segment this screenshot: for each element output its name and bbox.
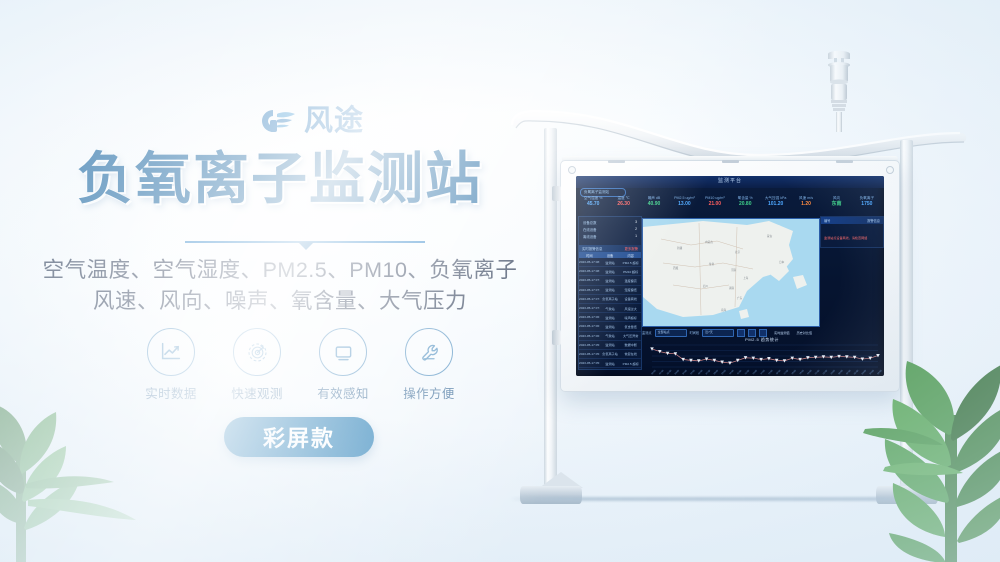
alarm-more-link[interactable]: 更多报警 (624, 246, 638, 251)
metric-card: 风向 东南 (821, 196, 851, 214)
feature-item-effective-sensing[interactable]: 有效感知 (312, 328, 374, 402)
trend-line-chart[interactable]: 00:0001:0002:0003:0004:0005:0006:0007:00… (642, 342, 882, 376)
metric-card: 空气湿度 % 45.70 (578, 196, 608, 214)
time-range-value: 近7天 (705, 330, 713, 334)
svg-text:13:00: 13:00 (753, 369, 759, 375)
svg-text:15:00: 15:00 (768, 369, 774, 375)
svg-text:01:00: 01:00 (846, 369, 852, 375)
svg-text:07:00: 07:00 (706, 369, 712, 375)
svg-text:20:00: 20:00 (807, 369, 813, 375)
cabinet-hinge (552, 330, 561, 345)
vent-slot (722, 160, 739, 163)
alarm-panel: 设备总数 3 在线设备 2 离线设备 1 实时报警信息 (578, 216, 642, 370)
svg-text:甘肃: 甘肃 (709, 262, 715, 266)
svg-text:23:00: 23:00 (831, 369, 837, 375)
svg-text:00:00: 00:00 (651, 369, 657, 375)
screw-hole (568, 166, 576, 174)
control-label-left: 监测点 (642, 330, 652, 335)
svg-text:四川: 四川 (703, 284, 709, 288)
metric-card: 大气压强 kPa 101.20 (760, 196, 790, 214)
line-chart-icon (147, 328, 195, 376)
svg-text:上海: 上海 (743, 276, 749, 280)
metric-card: 温度 ℃ 26.30 (608, 196, 638, 214)
svg-text:湖南: 湖南 (729, 286, 735, 290)
svg-text:02:00: 02:00 (667, 369, 673, 375)
svg-text:03:00: 03:00 (862, 369, 868, 375)
svg-text:04:00: 04:00 (682, 369, 688, 375)
title-divider (185, 237, 425, 249)
summary-key: 设备总数 (583, 220, 597, 225)
dashboard-title: 监测平台 (576, 177, 884, 184)
dashboard-screen[interactable]: 监测平台 负氧离子监测站 空气湿度 % 45.70 温度 ℃ 26.30 噪声 … (576, 176, 884, 376)
svg-text:新疆: 新疆 (677, 246, 683, 250)
table-row[interactable]: 2023-05-17 07:22 负氧离子站 设备离线 (579, 295, 641, 304)
table-row[interactable]: 2023-05-17 05:36 负氧离子站 恢复在线 (579, 350, 641, 359)
control-label-right: 时间段 (690, 330, 700, 335)
summary-value: 2 (635, 227, 637, 232)
product-variant-badge[interactable]: 彩屏款 (224, 417, 374, 457)
alarm-detail-text: 监测站点设备离线，请检查网络 (824, 236, 867, 240)
summary-value: 3 (635, 220, 637, 225)
metric-value: 东南 (821, 201, 851, 209)
table-row[interactable]: 2023-05-17 06:11 气象站 大气压异常 (579, 332, 641, 341)
metric-value: 101.20 (760, 201, 790, 209)
alarm-detail-panel: 编号 报警信息 监测站点设备离线，请检查网络 (820, 216, 884, 248)
site-filter-select[interactable]: 全部站点 (655, 329, 687, 337)
svg-text:04:00: 04:00 (869, 369, 875, 375)
metric-value: 13.00 (669, 201, 699, 209)
table-row[interactable]: 2023-05-17 07:58 监测站 温度偏高 (579, 276, 641, 285)
wrench-icon (405, 328, 453, 376)
svg-text:18:00: 18:00 (792, 369, 798, 375)
svg-text:16:00: 16:00 (776, 369, 782, 375)
feature-list: 实时数据 快速观测 (140, 328, 460, 402)
svg-text:05:00: 05:00 (877, 369, 882, 375)
metric-card: 噪声 dB 40.90 (639, 196, 669, 214)
brand-logo: 风途 (253, 104, 364, 138)
alarm-detail-row: 监测站点设备离线，请检查网络 (821, 224, 883, 246)
metric-value: 1750 (852, 201, 882, 209)
table-row[interactable]: 2023-05-17 08:05 监测站 PM10 超标 (579, 267, 641, 276)
divider-triangle-icon (298, 242, 314, 250)
feature-label: 操作方便 (403, 383, 455, 402)
feature-label: 有效感知 (317, 383, 369, 402)
wind-leaf-logo-icon (253, 104, 297, 138)
table-row[interactable]: 2023-05-17 07:40 监测站 湿度偏低 (579, 286, 641, 295)
summary-row: 在线设备 2 (579, 226, 641, 233)
metric-value: 45.70 (578, 201, 608, 209)
feature-item-fast-observation[interactable]: 快速观测 (226, 328, 288, 402)
svg-text:南海: 南海 (721, 308, 727, 312)
support-post-left (544, 128, 557, 490)
metric-card: PM10 ug/m³ 21.00 (700, 196, 730, 214)
china-map[interactable]: 新疆内蒙古 西藏甘肃 北京河南 四川湖南 上海广东 蒙古日本 南海 (642, 218, 820, 327)
svg-text:00:00: 00:00 (838, 369, 844, 375)
feature-label: 快速观测 (231, 383, 283, 402)
svg-text:02:00: 02:00 (854, 369, 860, 375)
svg-text:西藏: 西藏 (673, 266, 679, 270)
svg-text:蒙古: 蒙古 (767, 234, 773, 238)
metric-card: 负氧离子 1750 (852, 196, 882, 214)
svg-text:11:00: 11:00 (737, 369, 743, 375)
svg-text:广东: 广东 (737, 296, 743, 300)
legend-item-b: 历史对比值 (797, 330, 812, 335)
page-title: 负氧离子监测站 (0, 150, 560, 207)
table-row[interactable]: 2023-05-17 05:55 监测站 数据中断 (579, 341, 641, 350)
view-toggle-button[interactable] (737, 329, 745, 337)
metric-card: 氧含量 % 20.80 (730, 196, 760, 214)
table-row[interactable]: 2023-05-17 06:30 监测站 氧含量低 (579, 322, 641, 331)
svg-text:05:00: 05:00 (690, 369, 696, 375)
monitor-icon (319, 328, 367, 376)
metric-value: 1.20 (791, 201, 821, 209)
alarm-header-title: 实时报警信息 (582, 246, 602, 251)
svg-text:17:00: 17:00 (784, 369, 790, 375)
alarm-panel-header: 实时报警信息 更多报警 (579, 245, 641, 252)
svg-text:06:00: 06:00 (698, 369, 704, 375)
screw-hole (886, 166, 894, 174)
alarm-detail-header: 编号 报警信息 (821, 217, 883, 224)
monitoring-station-illustration: 监测平台 负氧离子监测站 空气湿度 % 45.70 温度 ℃ 26.30 噪声 … (500, 0, 1000, 562)
svg-text:日本: 日本 (779, 260, 785, 264)
svg-text:14:00: 14:00 (760, 369, 766, 375)
summary-key: 离线设备 (583, 234, 597, 239)
metric-card: 风速 m/s 1.20 (791, 196, 821, 214)
subtitle-line-2: 风速、风向、噪声、氧含量、大气压力 (0, 286, 560, 317)
time-range-select[interactable]: 近7天 (702, 329, 734, 337)
badge-label: 彩屏款 (263, 421, 335, 453)
svg-text:19:00: 19:00 (799, 369, 805, 375)
summary-value: 1 (635, 234, 637, 239)
detail-header-left: 编号 (824, 218, 830, 223)
feature-item-easy-operation[interactable]: 操作方便 (398, 328, 460, 402)
table-row[interactable]: 2023-05-17 06:48 监测站 噪声超标 (579, 313, 641, 322)
feature-item-realtime-data[interactable]: 实时数据 (140, 328, 202, 402)
summary-row: 离线设备 1 (579, 233, 641, 240)
alarm-table-body: 2023-05-17 08:12 监测站 PM2.5 超标 2023-05-17… (579, 258, 641, 368)
metric-value: 21.00 (700, 201, 730, 209)
refresh-button[interactable] (748, 329, 756, 337)
vent-slot (608, 160, 625, 163)
column-header: 内容 (620, 253, 641, 258)
support-post-right (900, 140, 913, 490)
hero-subtitle: 空气温度、空气湿度、PM2.5、PM10、负氧离子 风速、风向、噪声、氧含量、大… (0, 255, 560, 316)
legend-item-a: 实时监测值 (774, 330, 789, 335)
detail-header-right: 报警信息 (867, 218, 880, 223)
svg-text:09:00: 09:00 (721, 369, 727, 375)
svg-text:21:00: 21:00 (815, 369, 821, 375)
svg-text:河南: 河南 (731, 268, 737, 272)
metric-value: 26.30 (608, 201, 638, 209)
vent-slot (836, 160, 853, 163)
table-row[interactable]: 2023-05-17 05:18 监测站 PM2.5 超标 (579, 359, 641, 368)
chart-controls: 监测点 全部站点 时间段 近7天 实时监测值 历史对比值 (642, 328, 882, 337)
metric-card: PM2.5 ug/m³ 13.00 (669, 196, 699, 214)
brand-name: 风途 (304, 107, 364, 136)
summary-key: 在线设备 (583, 227, 597, 232)
metric-strip: 空气湿度 % 45.70 温度 ℃ 26.30 噪声 dB 40.90 PM2.… (578, 196, 882, 214)
fullscreen-button[interactable] (759, 329, 767, 337)
table-row[interactable]: 2023-05-17 07:05 气象站 风速过大 (579, 304, 641, 313)
svg-text:08:00: 08:00 (714, 369, 720, 375)
column-header: 设备 (600, 253, 621, 258)
poster-canvas: 风途 负氧离子监测站 空气温度、空气湿度、PM2.5、PM10、负氧离子 风速、… (0, 0, 1000, 562)
svg-text:北京: 北京 (735, 250, 741, 254)
svg-text:22:00: 22:00 (823, 369, 829, 375)
feature-label: 实时数据 (145, 383, 197, 402)
svg-text:内蒙古: 内蒙古 (705, 240, 713, 244)
column-header: 时间 (579, 253, 600, 258)
metric-value: 20.80 (730, 201, 760, 209)
svg-text:03:00: 03:00 (675, 369, 681, 375)
metric-value: 40.90 (639, 201, 669, 209)
summary-row: 设备总数 3 (579, 219, 641, 226)
station-select-value: 负氧离子监测站 (584, 190, 609, 195)
svg-text:01:00: 01:00 (659, 369, 665, 375)
radar-scan-icon (233, 328, 281, 376)
base-plate-right (876, 486, 938, 504)
subtitle-line-1: 空气温度、空气湿度、PM2.5、PM10、负氧离子 (0, 255, 560, 286)
site-filter-value: 全部站点 (658, 330, 670, 334)
dashboard-body: 设备总数 3 在线设备 2 离线设备 1 实时报警信息 (576, 216, 884, 376)
base-plate-left (520, 486, 582, 504)
hero-text-column: 风途 负氧离子监测站 空气温度、空气湿度、PM2.5、PM10、负氧离子 风速、… (0, 0, 560, 562)
svg-text:10:00: 10:00 (729, 369, 735, 375)
ground-shadow (510, 497, 930, 501)
svg-text:12:00: 12:00 (745, 369, 751, 375)
ultrasonic-weather-sensor-icon (822, 48, 856, 133)
table-row[interactable]: 2023-05-17 08:12 监测站 PM2.5 超标 (579, 258, 641, 267)
cabinet-hinge (552, 186, 561, 201)
